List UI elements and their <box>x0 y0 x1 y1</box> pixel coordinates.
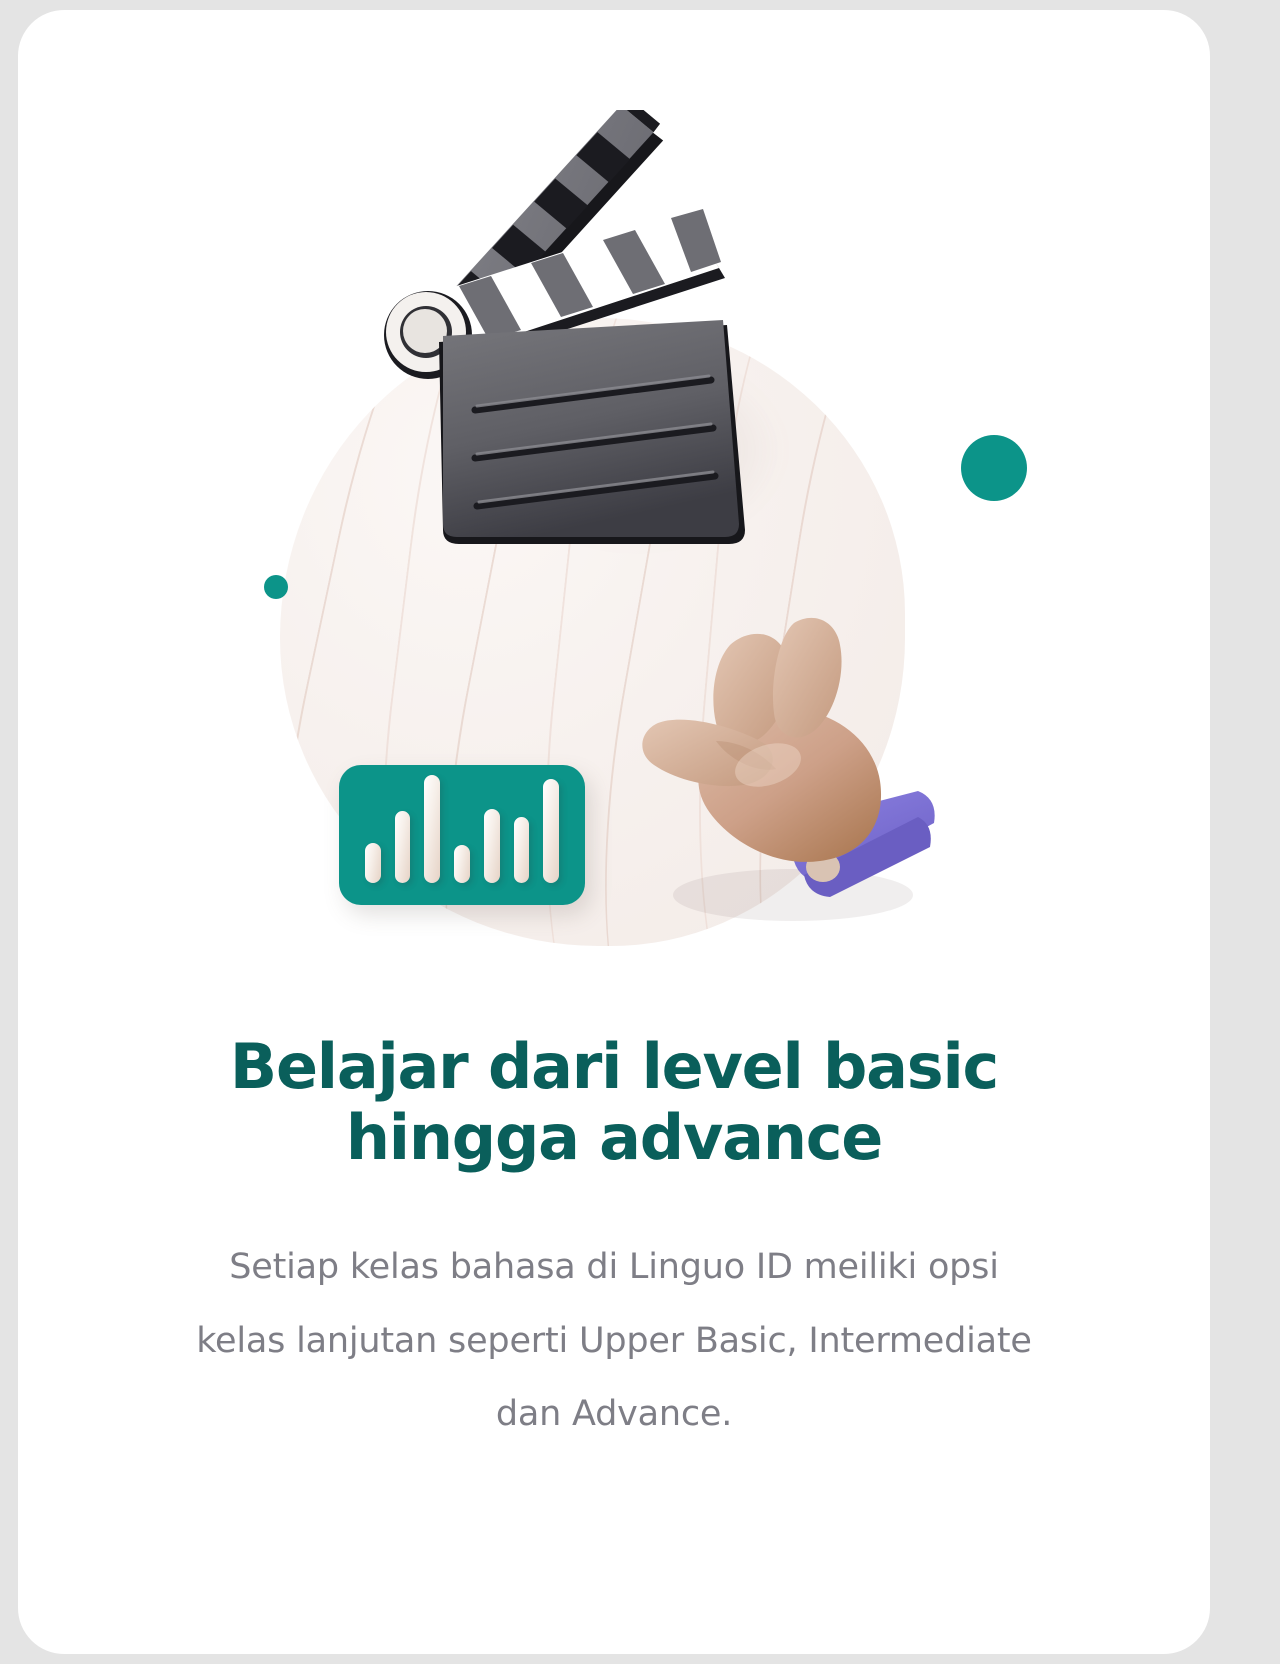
equalizer-bar <box>543 779 559 883</box>
card-description: Setiap kelas bahasa di Linguo ID meiliki… <box>78 1231 1150 1452</box>
card-text-block: Belajar dari level basic hingga advance … <box>78 1032 1150 1452</box>
equalizer-bar <box>454 845 470 883</box>
feature-card: Belajar dari level basic hingga advance … <box>18 10 1210 1654</box>
equalizer-bars-icon <box>339 765 585 905</box>
equalizer-bar <box>395 811 411 883</box>
card-description-line-2: kelas lanjutan seperti Upper Basic, Inte… <box>196 1321 1032 1361</box>
teal-dot-small <box>264 575 288 599</box>
equalizer-bar <box>514 817 530 883</box>
page-root: Belajar dari level basic hingga advance … <box>0 0 1280 1664</box>
equalizer-bar <box>424 775 440 883</box>
clapperboard-icon <box>373 110 773 550</box>
pinching-hand-icon <box>618 575 948 925</box>
equalizer-bar <box>484 809 500 883</box>
card-description-line-3: dan Advance. <box>496 1394 732 1434</box>
equalizer-bar <box>365 843 381 883</box>
teal-dot-large <box>961 435 1027 501</box>
card-title-line-2: hingga advance <box>346 1101 882 1174</box>
card-title-line-1: Belajar dari level basic <box>230 1030 998 1103</box>
illustration-area <box>18 10 1210 1010</box>
card-description-line-1: Setiap kelas bahasa di Linguo ID meiliki… <box>229 1247 999 1287</box>
card-title: Belajar dari level basic hingga advance <box>78 1032 1150 1173</box>
